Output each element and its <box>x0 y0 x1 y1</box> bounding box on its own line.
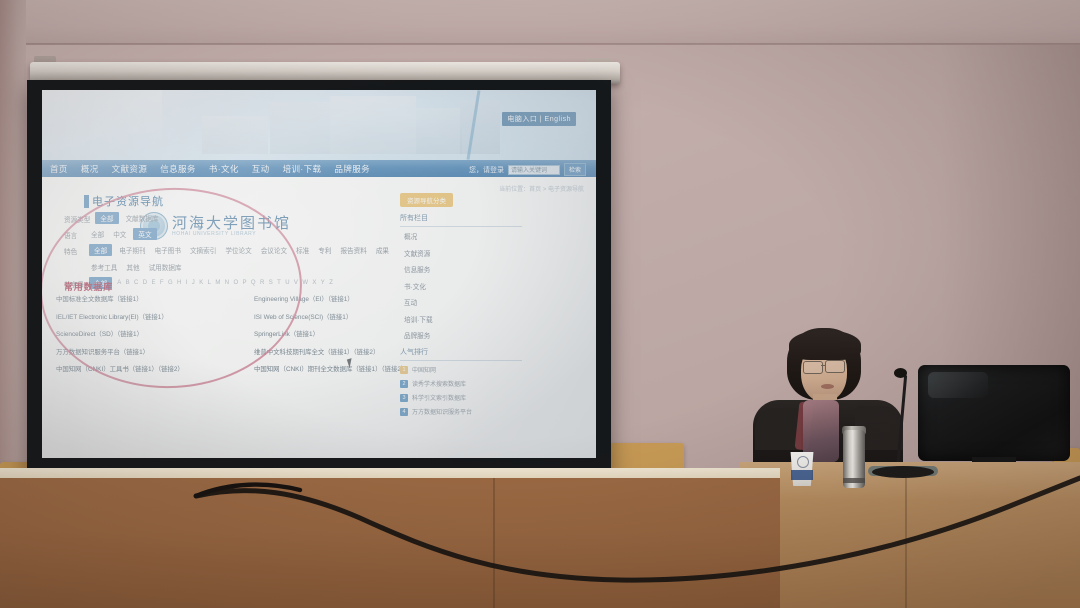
presenter-mouth <box>821 384 834 389</box>
filter-option-chinese[interactable]: 中文 <box>111 228 128 240</box>
section-title: 常用数据库 <box>64 280 113 293</box>
alpha-u[interactable]: U <box>285 280 289 286</box>
title-accent-bar <box>84 195 89 208</box>
alpha-f[interactable]: F <box>160 280 164 286</box>
alpha-o[interactable]: O <box>233 280 238 286</box>
rank-label: 读秀学术搜索数据库 <box>412 379 466 388</box>
podium-table <box>0 478 780 608</box>
list-item[interactable]: 1 中国知网 <box>400 365 522 374</box>
alpha-g[interactable]: G <box>168 280 173 286</box>
thermos-ring <box>843 478 865 483</box>
rank-label: 万方数据知识服务平台 <box>412 407 472 416</box>
filter-option-abstract[interactable]: 文摘索引 <box>188 244 218 256</box>
alpha-s[interactable]: S <box>269 280 273 286</box>
nav-item-interaction[interactable]: 互动 <box>252 163 270 175</box>
nav-item-list: 首页 概况 文献资源 信息服务 书·文化 互动 培训·下载 品牌服务 <box>50 161 370 176</box>
filter-option-all[interactable]: 全部 <box>89 244 112 256</box>
search-button[interactable]: 检索 <box>564 163 586 176</box>
filter-row-language: 语言 全部 中文 英文 <box>64 228 424 240</box>
alpha-p[interactable]: P <box>243 280 247 286</box>
filter-option-english[interactable]: 英文 <box>133 228 156 240</box>
nav-item-services[interactable]: 信息服务 <box>160 163 196 175</box>
filter-option-patent[interactable]: 专利 <box>316 244 333 256</box>
desk-panel-seam <box>493 478 495 608</box>
filter-option-db[interactable]: 文献数据库 <box>124 212 161 224</box>
alpha-l[interactable]: L <box>208 280 211 286</box>
projector-screen-surface: 电脑入口 | English 河海大学图书馆 HOHAI UNIVERSITY … <box>42 90 596 458</box>
list-item[interactable]: 中国标准全文数据库（链接1） <box>56 294 238 303</box>
desk-front-right <box>740 462 1080 608</box>
list-item[interactable]: IEL/IET Electronic Library(EI)（链接1） <box>56 312 238 321</box>
resource-column-left: 中国标准全文数据库（链接1） IEL/IET Electronic Librar… <box>56 294 238 373</box>
glasses-lens-left <box>803 361 823 374</box>
alpha-x[interactable]: X <box>312 280 316 286</box>
filter-option-all[interactable]: 全部 <box>95 212 118 224</box>
list-item[interactable]: 2 读秀学术搜索数据库 <box>400 379 522 388</box>
site-banner: 电脑入口 | English <box>42 90 596 160</box>
sidebar: 资源导航分类 所有栏目 概况 文献资源 信息服务 书·文化 互动 培训·下载 品… <box>400 190 522 416</box>
glasses-bridge <box>821 365 826 366</box>
filter-option-trial[interactable]: 试用数据库 <box>147 261 184 273</box>
sidebar-link-list: 概况 文献资源 信息服务 书·文化 互动 培训·下载 品牌服务 <box>400 231 522 340</box>
ranking-list: 1 中国知网 2 读秀学术搜索数据库 3 科学引文索引数据库 4 万方数据知识服… <box>400 365 522 416</box>
list-item[interactable]: 4 万方数据知识服务平台 <box>400 407 522 416</box>
paper-cup-logo-icon <box>797 456 809 468</box>
filter-row-feature: 特色 全部 电子期刊 电子图书 文摘索引 学位论文 会议论文 标准 专利 报告资… <box>64 244 424 273</box>
alpha-m[interactable]: M <box>215 280 220 286</box>
sidebar-heading: 所有栏目 <box>400 213 522 227</box>
alpha-c[interactable]: C <box>134 280 138 286</box>
filter-row-type: 资源类型 全部 文献数据库 <box>64 212 424 224</box>
alpha-w[interactable]: W <box>302 280 308 286</box>
filter-label: 语言 <box>64 228 84 240</box>
filter-options: 全部 文献数据库 <box>95 212 160 224</box>
filter-option-all[interactable]: 全部 <box>89 228 106 240</box>
alpha-h[interactable]: H <box>177 280 181 286</box>
filter-option-conference[interactable]: 会议论文 <box>259 244 289 256</box>
alpha-d[interactable]: D <box>143 280 147 286</box>
filter-label: 特色 <box>64 244 84 256</box>
sidebar-item-training[interactable]: 培训·下载 <box>400 314 522 324</box>
alpha-v[interactable]: V <box>294 280 298 286</box>
left-pillar <box>0 0 26 478</box>
rank-badge: 1 <box>400 366 408 374</box>
alpha-a[interactable]: A <box>117 280 121 286</box>
nav-item-training[interactable]: 培训·下载 <box>283 163 322 175</box>
nav-search: 您，请登录 请输入关键词 检索 <box>469 163 586 176</box>
alpha-q[interactable]: Q <box>251 280 256 286</box>
nav-item-culture[interactable]: 书·文化 <box>209 163 239 175</box>
sidebar-item-resources[interactable]: 文献资源 <box>400 248 522 258</box>
filter-label: 资源类型 <box>64 212 90 224</box>
monitor-glare <box>928 372 988 398</box>
microphone-head-icon <box>894 368 907 378</box>
rank-badge: 3 <box>400 394 408 402</box>
alpha-r[interactable]: R <box>260 280 264 286</box>
list-item[interactable]: 中国知网（CNKI）工具书（链接1）（链接2） <box>56 364 238 373</box>
rank-badge: 4 <box>400 408 408 416</box>
nav-item-home[interactable]: 首页 <box>50 163 68 175</box>
sidebar-item-culture[interactable]: 书·文化 <box>400 281 522 291</box>
building-graphic <box>270 102 330 154</box>
filter-options: 全部 中文 英文 <box>89 228 157 240</box>
filter-option-other[interactable]: 其他 <box>124 261 141 273</box>
alphabet-index: A B C D E F G H I J K L M <box>117 280 333 286</box>
filter-options: 全部 电子期刊 电子图书 文摘索引 学位论文 会议论文 标准 专利 报告资料 成… <box>89 244 424 273</box>
sidebar-tag[interactable]: 资源导航分类 <box>400 193 453 207</box>
alpha-b[interactable]: B <box>126 280 130 286</box>
filter-option-ebook[interactable]: 电子图书 <box>153 244 183 256</box>
alpha-e[interactable]: E <box>151 280 155 286</box>
building-graphic <box>460 100 500 154</box>
building-graphic <box>416 108 462 154</box>
sidebar-item-brand[interactable]: 品牌服务 <box>400 330 522 340</box>
sidebar-item-interaction[interactable]: 互动 <box>400 297 522 307</box>
top-links[interactable]: 电脑入口 | English <box>502 112 576 126</box>
filter-option-achievement[interactable]: 成果 <box>374 244 391 256</box>
list-item[interactable]: ScienceDirect（SD）（链接1） <box>56 329 238 338</box>
page-title: 电子资源导航 <box>92 193 164 209</box>
rank-label: 中国知网 <box>412 365 436 374</box>
filter-option-report[interactable]: 报告资料 <box>338 244 368 256</box>
rank-badge: 2 <box>400 380 408 388</box>
filter-option-reference[interactable]: 参考工具 <box>89 261 119 273</box>
filter-panel: 资源类型 全部 文献数据库 语言 全部 中文 英文 特色 <box>64 212 424 293</box>
alpha-k[interactable]: K <box>199 280 203 286</box>
login-greeting[interactable]: 您，请登录 <box>469 165 504 175</box>
alpha-j[interactable]: J <box>192 280 195 286</box>
paper-cup-band <box>791 470 813 480</box>
sidebar-heading-ranking: 人气排行 <box>400 347 522 361</box>
alpha-z[interactable]: Z <box>329 280 333 286</box>
building-graphic <box>202 116 268 154</box>
sidebar-item-services[interactable]: 信息服务 <box>400 264 522 274</box>
filter-option-standard[interactable]: 标准 <box>294 244 311 256</box>
ceiling-band <box>0 0 1080 44</box>
filter-option-ejournal[interactable]: 电子期刊 <box>117 244 147 256</box>
glasses-lens-right <box>825 360 845 373</box>
nav-item-resources[interactable]: 文献资源 <box>112 163 148 175</box>
building-graphic <box>330 96 416 154</box>
filter-option-thesis[interactable]: 学位论文 <box>223 244 253 256</box>
alpha-t[interactable]: T <box>277 280 281 286</box>
filter-options: 全部 A B C D E F G H I J K <box>89 277 333 289</box>
nav-item-overview[interactable]: 概况 <box>81 163 99 175</box>
alpha-n[interactable]: N <box>225 280 229 286</box>
desk-panel-seam <box>905 470 907 608</box>
alpha-y[interactable]: Y <box>321 280 325 286</box>
library-website: 电脑入口 | English 河海大学图书馆 HOHAI UNIVERSITY … <box>42 90 596 458</box>
page-title-block: 电子资源导航 <box>84 193 164 209</box>
filter-row-initial: 首字母 全部 A B C D E F G H I <box>64 277 424 289</box>
list-item[interactable]: 万方数据知识服务平台（链接1） <box>56 347 238 356</box>
nav-item-brand[interactable]: 品牌服务 <box>334 163 370 175</box>
list-item[interactable]: 3 科学引文索引数据库 <box>400 393 522 402</box>
sidebar-item-overview[interactable]: 概况 <box>400 231 522 241</box>
search-input[interactable]: 请输入关键词 <box>508 165 560 175</box>
microphone-base <box>872 466 934 478</box>
lecture-room-photo: 电脑入口 | English 河海大学图书馆 HOHAI UNIVERSITY … <box>0 0 1080 608</box>
presenter-fringe <box>789 330 861 360</box>
rank-label: 科学引文索引数据库 <box>412 393 466 402</box>
resource-columns: 中国标准全文数据库（链接1） IEL/IET Electronic Librar… <box>56 294 436 373</box>
alpha-i[interactable]: I <box>186 280 188 286</box>
